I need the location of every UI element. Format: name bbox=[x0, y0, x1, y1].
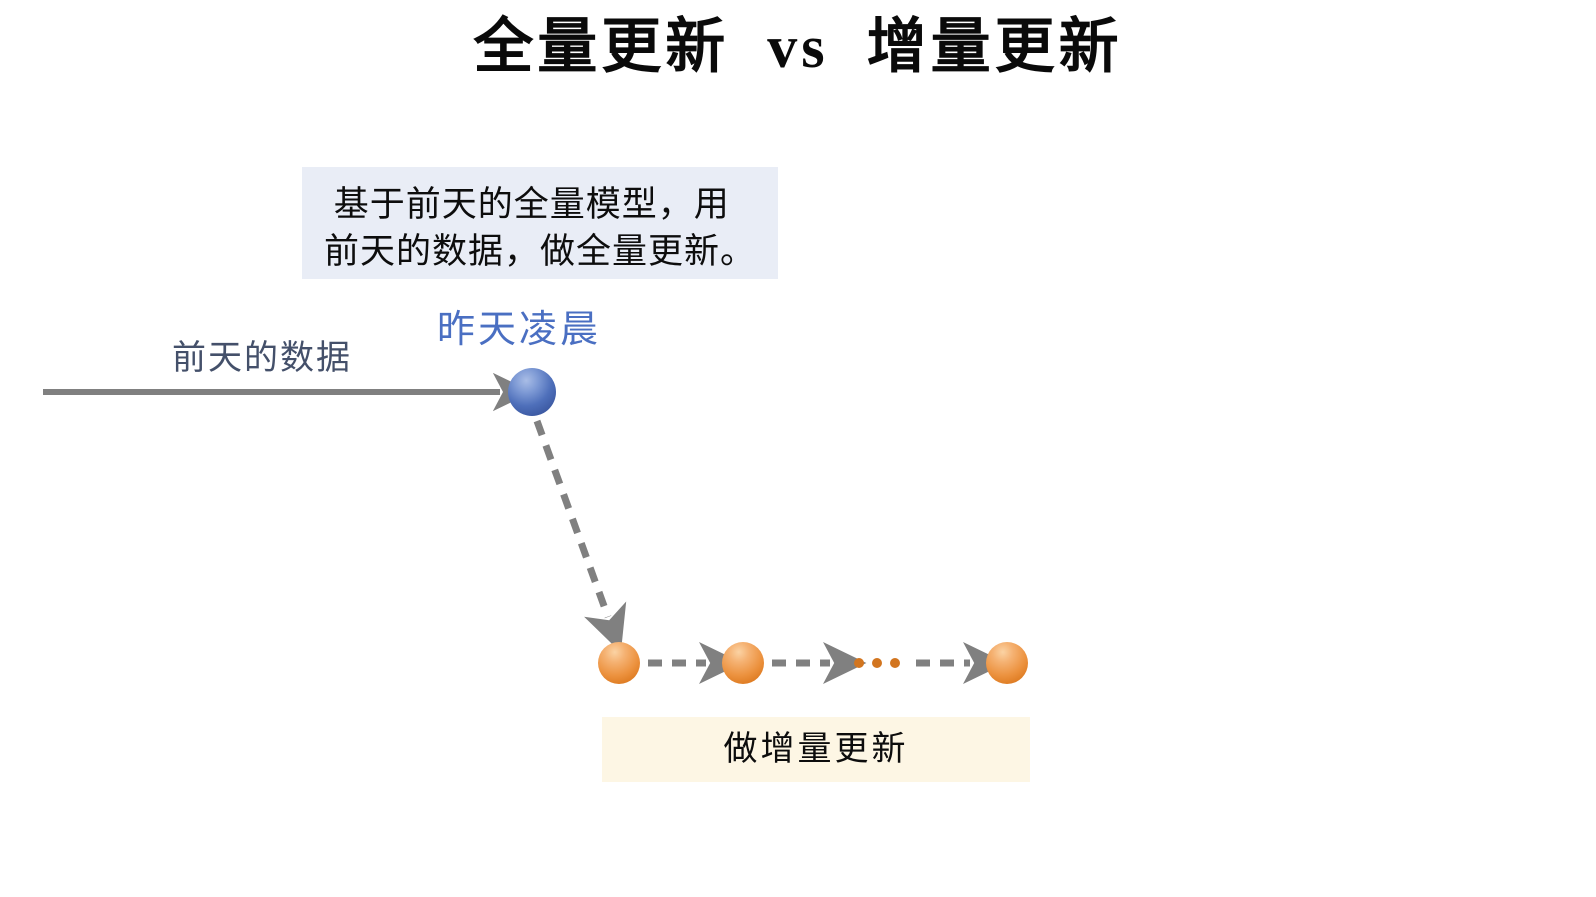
ellipsis-dot-2 bbox=[872, 658, 882, 668]
node-incremental-last[interactable] bbox=[986, 642, 1028, 684]
full-update-note-box: 基于前天的全量模型，用 前天的数据，做全量更新。 bbox=[302, 167, 778, 279]
label-previous-day-data: 前天的数据 bbox=[172, 340, 352, 377]
ellipsis-dot-1 bbox=[854, 658, 864, 668]
full-update-note-line-2: 前天的数据，做全量更新。 bbox=[324, 228, 760, 275]
node-incremental-1[interactable] bbox=[598, 642, 640, 684]
slide-canvas: 全量更新 vs 增量更新 基于前天的全量模型，用 前天的数据，做全量更新。 前天… bbox=[0, 0, 1596, 897]
node-incremental-2[interactable] bbox=[722, 642, 764, 684]
page-title: 全量更新 vs 增量更新 bbox=[0, 14, 1596, 80]
node-yesterday-dawn[interactable] bbox=[508, 368, 556, 416]
arrow-full-to-incremental bbox=[537, 421, 608, 617]
ellipsis-dot-3 bbox=[890, 658, 900, 668]
label-yesterday-dawn: 昨天凌晨 bbox=[437, 310, 601, 352]
incremental-update-note-box: 做增量更新 bbox=[602, 717, 1030, 782]
incremental-update-label: 做增量更新 bbox=[724, 731, 909, 768]
full-update-note-line-1: 基于前天的全量模型，用 bbox=[324, 181, 760, 228]
